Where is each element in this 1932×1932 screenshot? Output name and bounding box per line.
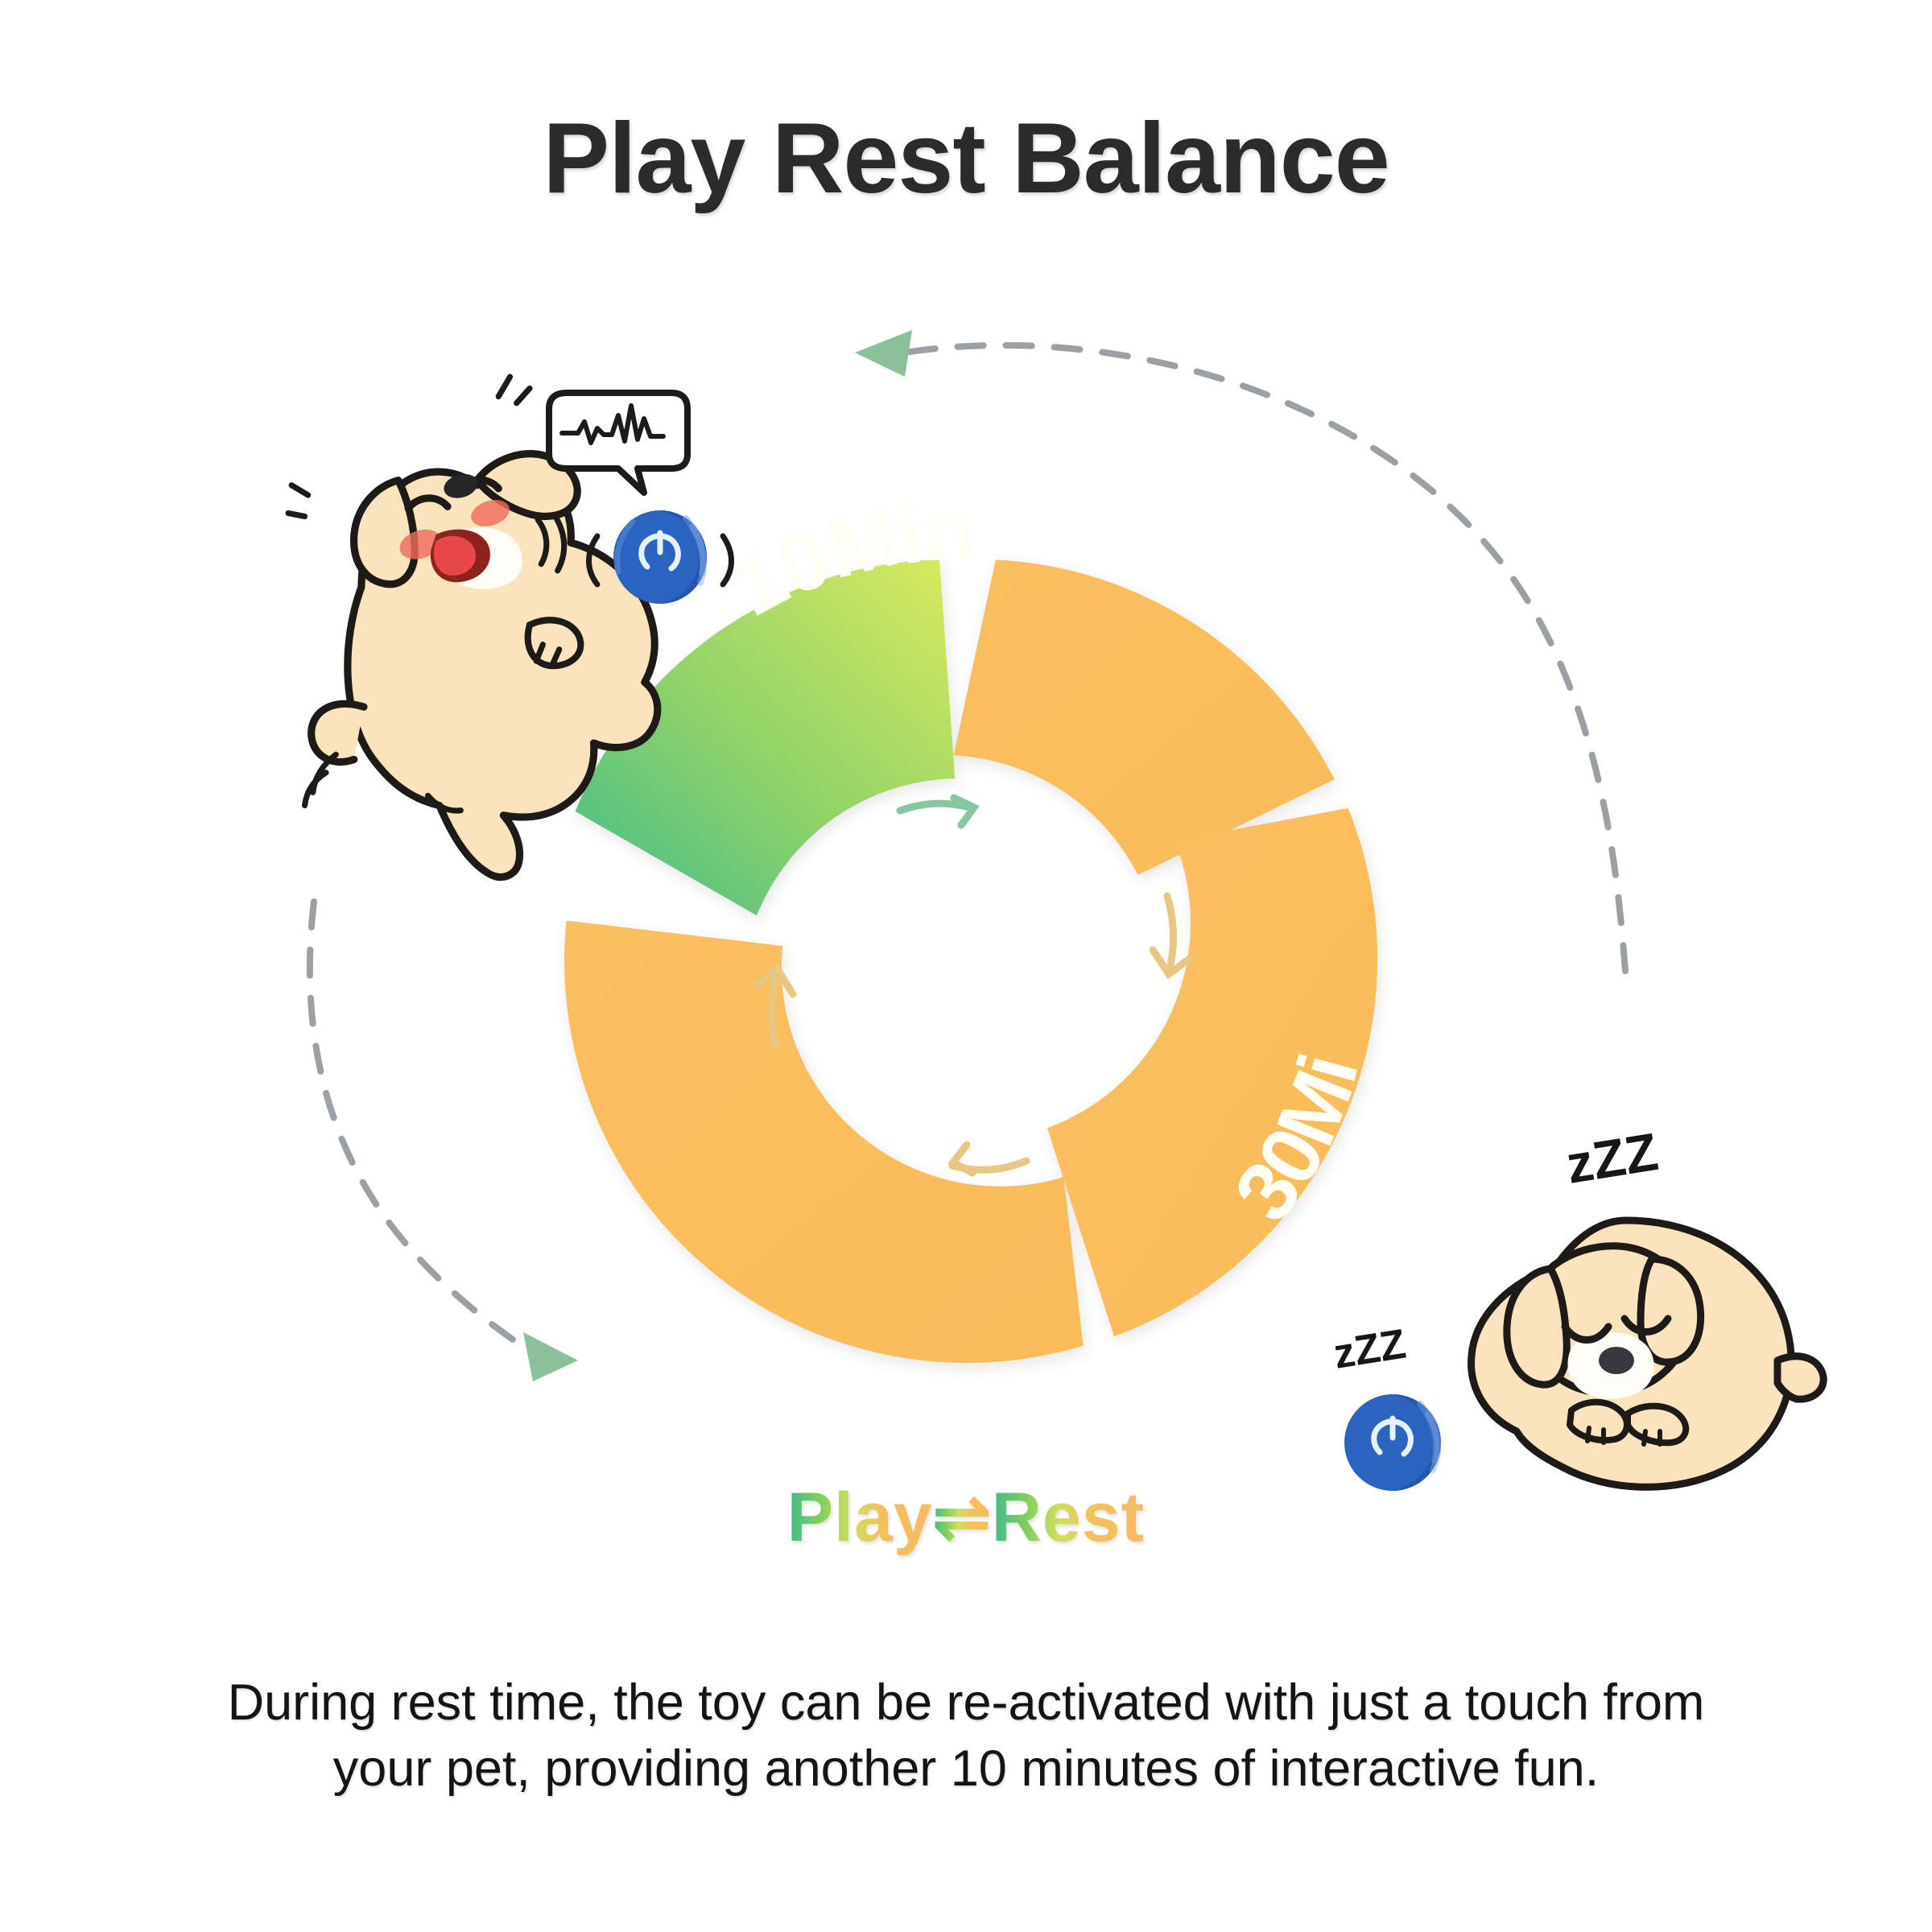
rest-to-play-arrow <box>855 330 1626 982</box>
segment-label-10min: 10Min <box>717 484 976 634</box>
legend-play-label: Play <box>787 1479 933 1556</box>
cycle-arrow-top-head-icon <box>954 798 974 825</box>
power-logo-icon <box>642 536 679 568</box>
caption-text: During rest time, the toy can be re-acti… <box>185 1670 1747 1802</box>
cycle-arrow-left-head-icon <box>758 968 793 994</box>
legend-rest-label: Rest <box>992 1479 1145 1556</box>
blue-toy-ball-resting <box>1344 1394 1441 1491</box>
blush-left <box>396 525 445 564</box>
waveform-icon <box>562 406 663 443</box>
cycle-arrow-left-icon <box>771 971 778 1046</box>
swap-icon: ⇌ <box>933 1479 992 1556</box>
cycle-arrow-bottom-head-icon <box>953 1145 972 1173</box>
cycle-arrow-right-icon <box>1167 896 1174 972</box>
sleep-text-ball: zZZ <box>1331 1321 1410 1378</box>
rest-to-play-arrowhead-icon <box>855 330 912 377</box>
donut-segment-rest-a[interactable] <box>954 559 1335 875</box>
cycle-arrow-top-icon <box>900 803 972 811</box>
donut-chart <box>564 559 1377 1363</box>
diagram-artwork: 10Min 30Min <box>0 0 1932 1932</box>
cycle-arrow-bottom-icon <box>952 1161 1026 1170</box>
caption-line-2: your pet, providing another 10 minutes o… <box>185 1736 1747 1802</box>
caption-line-1: During rest time, the toy can be re-acti… <box>185 1670 1747 1736</box>
excited-dog <box>288 377 658 877</box>
page-title: Play Rest Balance <box>0 106 1932 211</box>
donut-segment-rest-30min[interactable] <box>1047 808 1377 1336</box>
blue-toy-ball-playing <box>589 510 732 604</box>
play-rest-legend: Play⇌Rest <box>0 1477 1932 1558</box>
play-to-rest-arrow <box>310 902 578 1381</box>
donut-segment-rest-b[interactable] <box>564 921 1084 1363</box>
play-to-rest-arrowhead-icon <box>523 1332 578 1381</box>
cycle-direction-arrows <box>758 798 1188 1173</box>
blush-right <box>468 495 513 530</box>
sleeping-dog <box>1472 1220 1824 1487</box>
donut-segment-play-10min[interactable] <box>576 559 956 915</box>
infographic-canvas: Play Rest Balance <box>0 0 1932 1932</box>
power-logo-icon <box>1374 1422 1411 1454</box>
motion-lines <box>288 377 564 811</box>
ball-motion-lines <box>589 536 732 584</box>
activity-waveform-bubble <box>549 393 687 493</box>
cycle-arrow-right-head-icon <box>1153 950 1188 974</box>
sleep-text-dog: zZZ <box>1563 1121 1662 1195</box>
